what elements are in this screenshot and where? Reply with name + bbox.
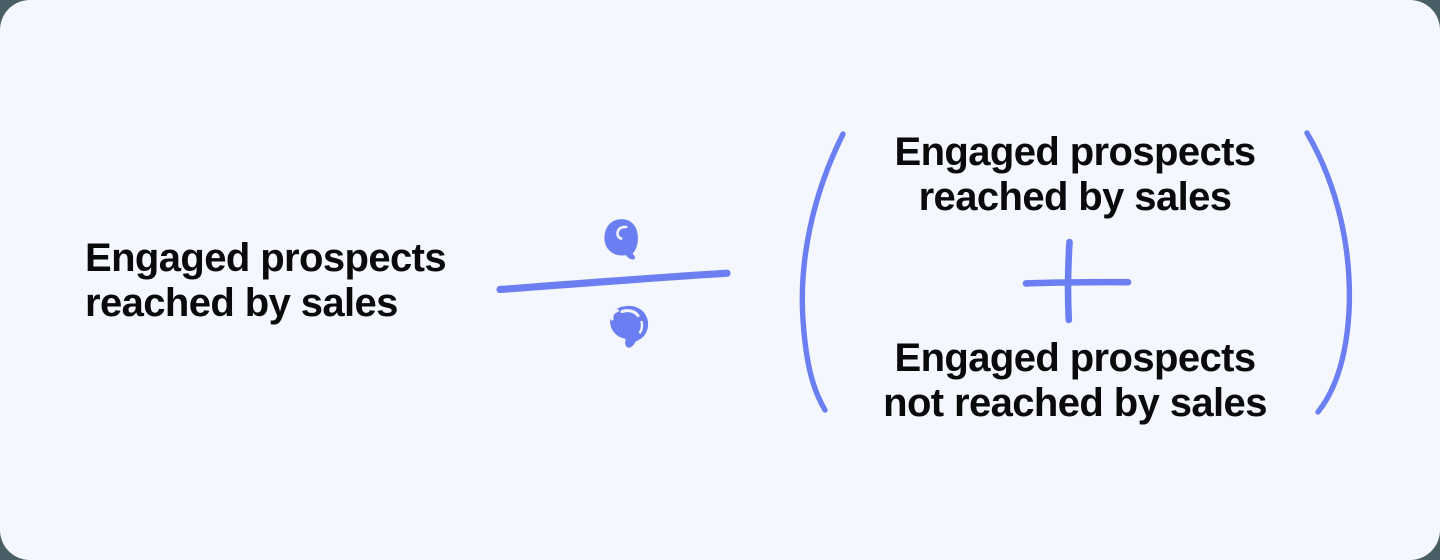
plus-symbol	[1026, 242, 1128, 320]
numerator-line-1: Engaged prospects	[85, 236, 446, 281]
plus-horizontal-stroke	[1026, 282, 1128, 283]
divide-bottom-dot-highlight-1	[612, 311, 618, 319]
denominator-first-term-line-2: reached by sales	[875, 175, 1275, 220]
divide-bar	[500, 273, 727, 289]
divide-bottom-dot-highlight-2	[622, 311, 638, 316]
plus-vertical-stroke	[1068, 242, 1069, 320]
denominator-second-term-line-2: not reached by sales	[868, 381, 1282, 426]
denominator-first-term-line-1: Engaged prospects	[875, 130, 1275, 175]
left-parenthesis	[802, 134, 843, 410]
right-parenthesis	[1307, 133, 1349, 412]
divide-bottom-dot-highlight-3	[640, 322, 642, 332]
divide-bottom-dot-group	[610, 306, 648, 348]
numerator-term: Engaged prospects reached by sales	[85, 236, 446, 326]
formula-panel: Engaged prospects reached by sales Engag…	[0, 0, 1440, 560]
numerator-line-2: reached by sales	[85, 281, 446, 326]
divide-bottom-dot-icon	[610, 306, 648, 348]
denominator-second-term: Engaged prospects not reached by sales	[868, 336, 1282, 426]
denominator-first-term: Engaged prospects reached by sales	[875, 130, 1275, 220]
divide-top-dot-highlight	[618, 227, 627, 239]
divide-symbol	[604, 219, 637, 259]
divide-top-dot-icon	[604, 219, 637, 259]
denominator-second-term-line-1: Engaged prospects	[868, 336, 1282, 381]
